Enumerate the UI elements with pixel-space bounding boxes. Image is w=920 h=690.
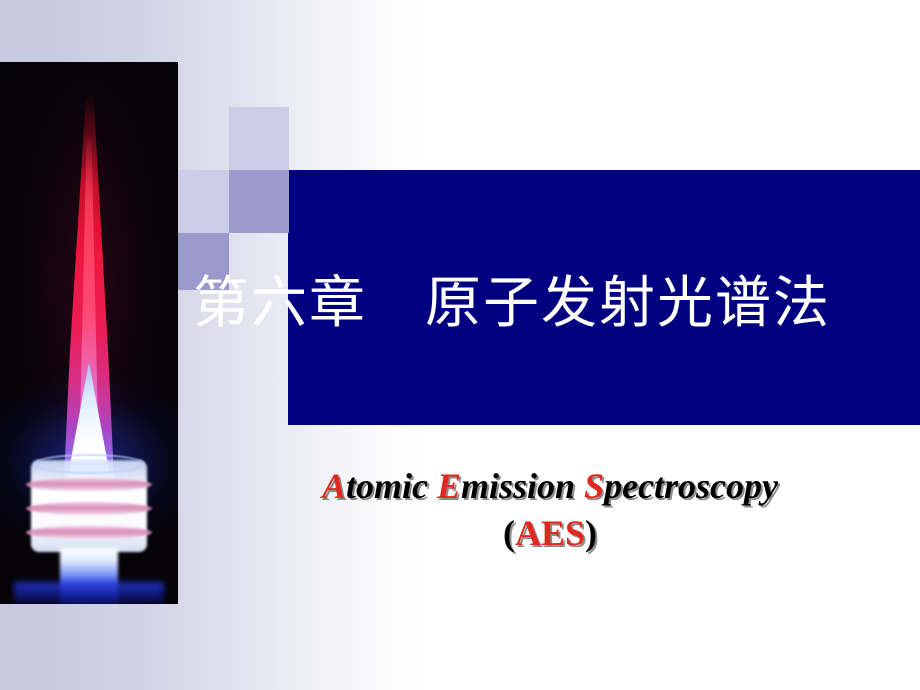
subtitle-line-abbreviation: (AES) <box>180 510 920 556</box>
icp-plasma-flame-photo <box>0 62 178 604</box>
title-slide: 第六章 原子发射光谱法 Atomic Emission Spectroscopy… <box>0 0 920 690</box>
decorative-square-middle-left <box>178 170 229 233</box>
photo-vignette <box>0 62 178 604</box>
subtitle-block: Atomic Emission Spectroscopy (AES) <box>180 462 920 556</box>
decorative-square-middle-right <box>229 170 289 233</box>
decorative-square-upper-right <box>229 107 289 170</box>
page-title: 第六章 原子发射光谱法 <box>193 272 893 336</box>
subtitle-line-english: Atomic Emission Spectroscopy <box>180 462 920 510</box>
